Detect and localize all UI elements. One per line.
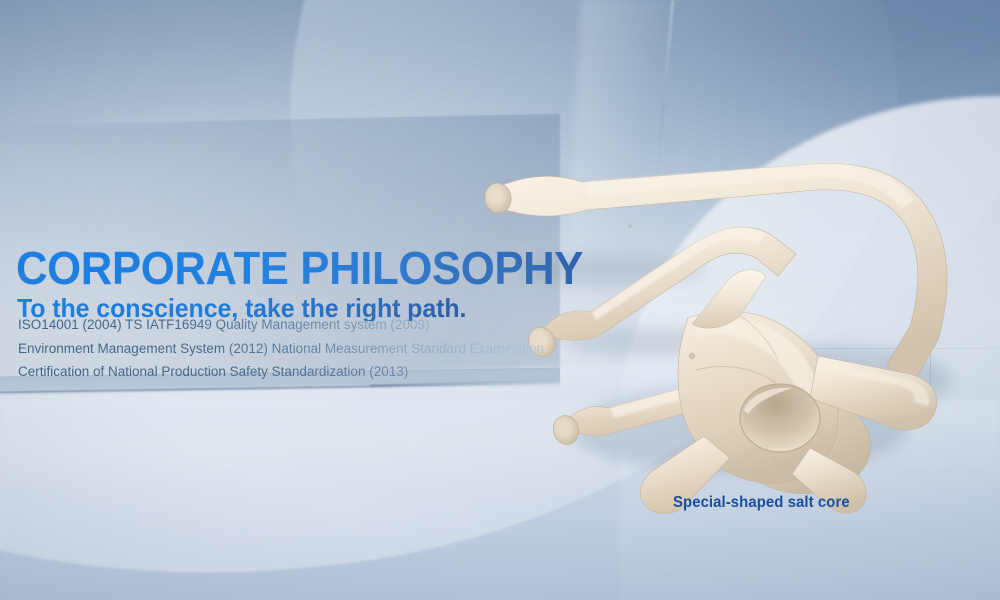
certifications-list: ISO14001 (2004) TS IATF16949 Quality Man…	[18, 313, 578, 384]
certification-line-2: Environment Management System (2012) Nat…	[18, 337, 578, 361]
certification-line-3: Certification of National Production Saf…	[18, 360, 578, 384]
product-caption: Special-shaped salt core	[673, 495, 850, 511]
corporate-philosophy-banner: CORPORATE PHILOSOPHY To the conscience, …	[0, 0, 1000, 600]
page-title: CORPORATE PHILOSOPHY	[16, 245, 583, 291]
certification-line-1: ISO14001 (2004) TS IATF16949 Quality Man…	[18, 313, 578, 337]
